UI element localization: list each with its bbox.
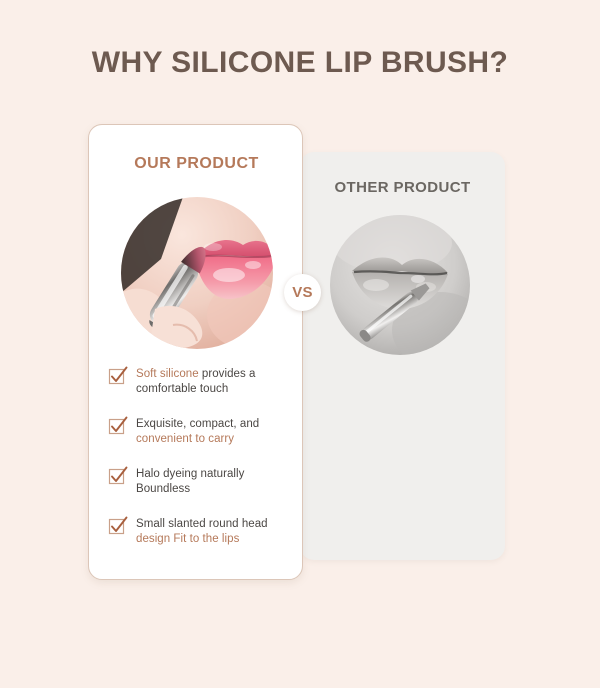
vs-badge: VS [284, 274, 321, 311]
our-product-heading: OUR PRODUCT [89, 155, 304, 173]
other-product-heading: OTHER PRODUCT [300, 179, 505, 196]
infographic-root: WHY SILICONE LIP BRUSH? OTHER PRODUCT [0, 0, 600, 600]
checkbox-check-icon [109, 419, 123, 433]
list-item-label: Halo dyeing naturally Boundless [136, 467, 299, 497]
list-item-label: Exquisite, compact, and convenient to ca… [136, 417, 299, 447]
checkbox-check-icon [109, 469, 123, 483]
list-item-rest: Small slanted round head [136, 518, 268, 530]
our-product-feature-list: Soft silicone provides a comfortable tou… [109, 367, 299, 567]
list-item: Halo dyeing naturally Boundless [109, 467, 299, 497]
other-product-image [330, 215, 470, 355]
other-product-card: OTHER PRODUCT [300, 152, 505, 560]
list-item-highlight: design Fit to the lips [136, 533, 239, 545]
checkbox-check-icon [109, 519, 123, 533]
list-item: Small slanted round head design Fit to t… [109, 517, 299, 547]
list-item: Soft silicone provides a comfortable tou… [109, 367, 299, 397]
list-item-rest: Exquisite, compact, and [136, 418, 259, 430]
list-item-highlight: convenient to carry [136, 433, 234, 445]
list-item-label: Soft silicone provides a comfortable tou… [136, 367, 299, 397]
list-item-highlight: Soft silicone [136, 368, 199, 380]
our-product-image [121, 197, 273, 349]
list-item-rest: Halo dyeing naturally Boundless [136, 468, 244, 495]
checkbox-check-icon [109, 369, 123, 383]
our-product-card: OUR PRODUCT [88, 124, 303, 580]
page-title: WHY SILICONE LIP BRUSH? [0, 46, 600, 80]
list-item: Exquisite, compact, and convenient to ca… [109, 417, 299, 447]
list-item-label: Small slanted round head design Fit to t… [136, 517, 299, 547]
